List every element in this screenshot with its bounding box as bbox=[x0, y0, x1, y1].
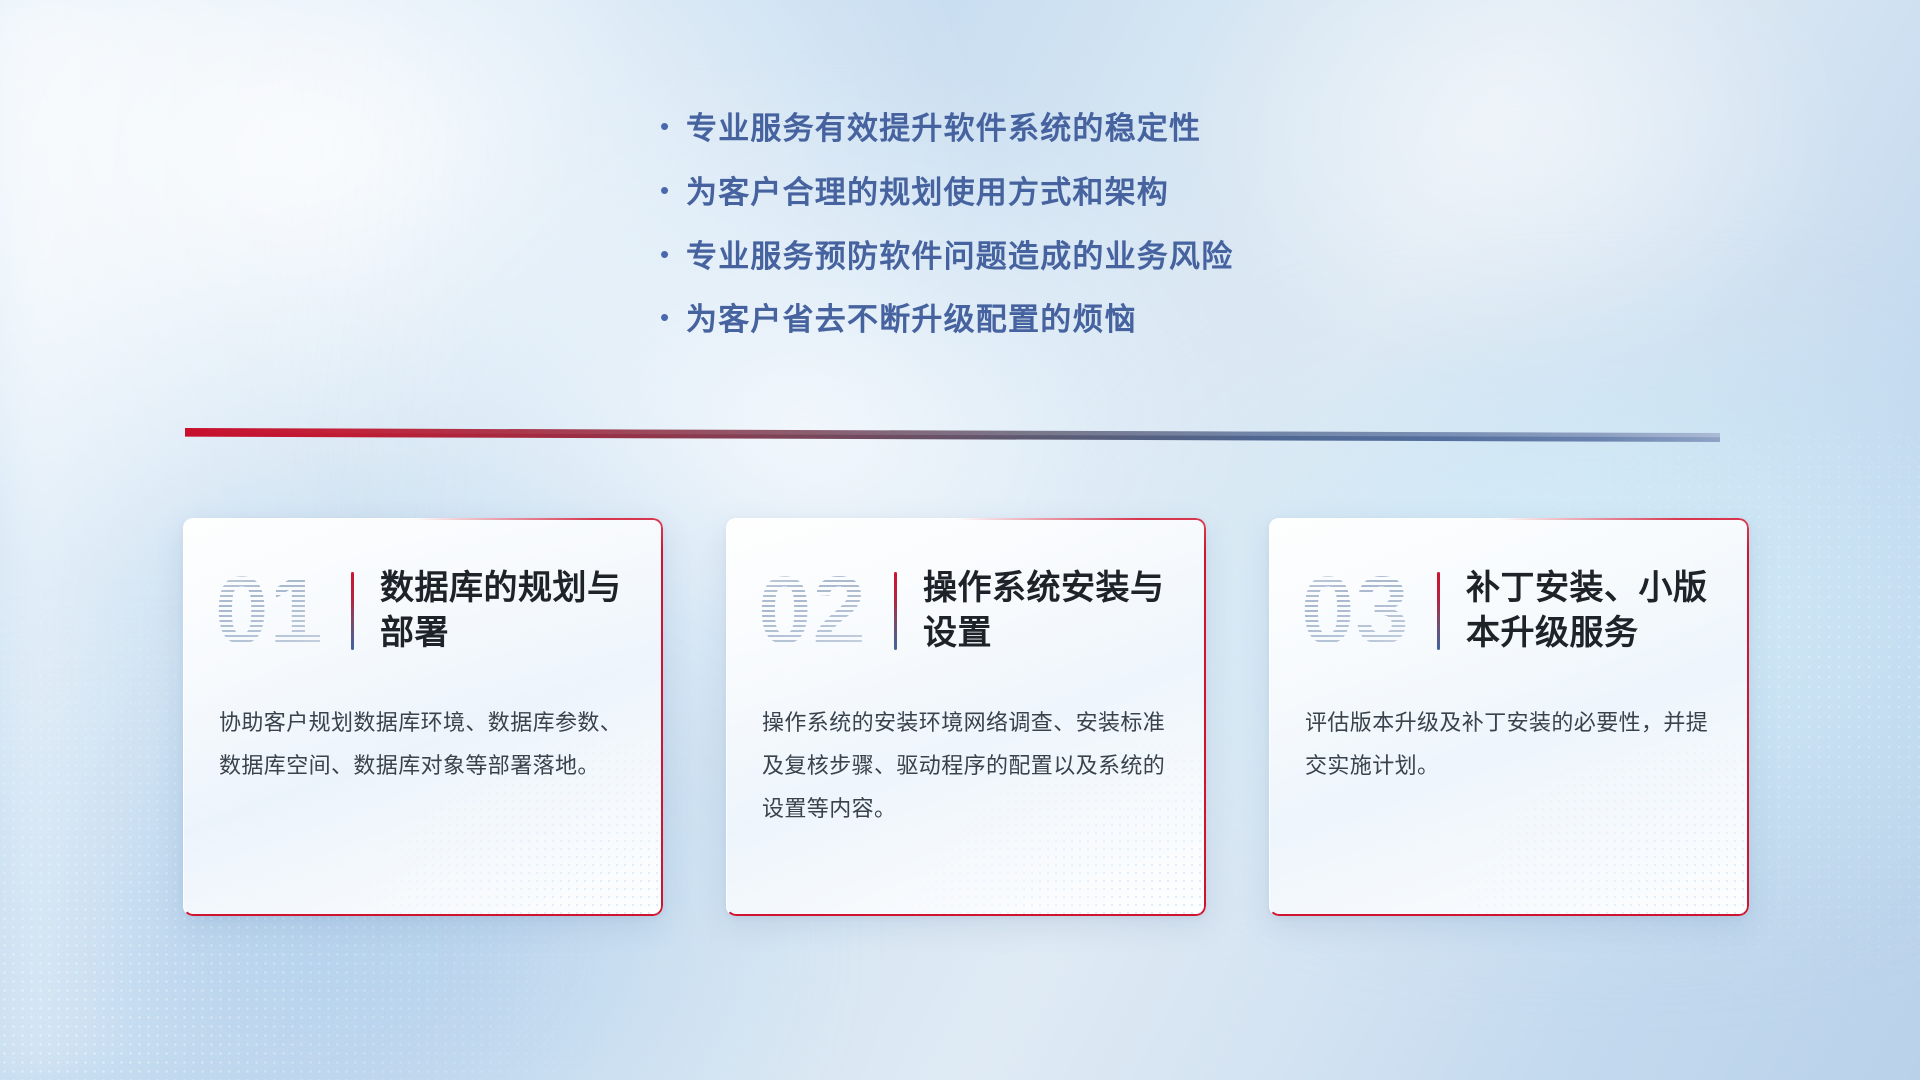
list-item: • 专业服务预防软件问题造成的业务风险 bbox=[660, 238, 1233, 277]
slide-content: • 专业服务有效提升软件系统的稳定性 • 为客户合理的规划使用方式和架构 • 专… bbox=[0, 0, 1920, 1080]
card-number-watermark: 02 bbox=[758, 555, 890, 667]
card-divider-rule bbox=[894, 572, 897, 650]
card-header: 02 操作系统安装与设置 bbox=[726, 518, 1206, 678]
card-description: 协助客户规划数据库环境、数据库参数、数据库空间、数据库对象等部署落地。 bbox=[183, 678, 663, 788]
bullet-text: 专业服务有效提升软件系统的稳定性 bbox=[686, 110, 1201, 149]
bullet-marker-icon: • bbox=[660, 241, 686, 267]
list-item: • 专业服务有效提升软件系统的稳定性 bbox=[660, 110, 1233, 149]
card-divider-rule bbox=[351, 572, 354, 650]
card-title: 操作系统安装与设置 bbox=[923, 566, 1176, 656]
card-number-watermark: 03 bbox=[1301, 555, 1433, 667]
card-header: 01 数据库的规划与部署 bbox=[183, 518, 663, 678]
service-card-02[interactable]: 02 操作系统安装与设置 操作系统的安装环境网络调查、安装标准及复核步骤、驱动程… bbox=[726, 518, 1206, 916]
bullet-marker-icon: • bbox=[660, 177, 686, 203]
service-card-group: 01 数据库的规划与部署 协助客户规划数据库环境、数据库参数、数据库空间、数据库… bbox=[183, 518, 1749, 916]
card-divider-rule bbox=[1437, 572, 1440, 650]
card-description: 操作系统的安装环境网络调查、安装标准及复核步骤、驱动程序的配置以及系统的设置等内… bbox=[726, 678, 1206, 831]
bullet-text: 专业服务预防软件问题造成的业务风险 bbox=[686, 238, 1233, 277]
benefits-bullet-list: • 专业服务有效提升软件系统的稳定性 • 为客户合理的规划使用方式和架构 • 专… bbox=[660, 110, 1233, 365]
bullet-text: 为客户合理的规划使用方式和架构 bbox=[686, 174, 1169, 213]
card-header: 03 补丁安装、小版本升级服务 bbox=[1269, 518, 1749, 678]
card-number-watermark: 01 bbox=[215, 555, 347, 667]
bullet-marker-icon: • bbox=[660, 304, 686, 330]
list-item: • 为客户合理的规划使用方式和架构 bbox=[660, 174, 1233, 213]
bullet-text: 为客户省去不断升级配置的烦恼 bbox=[686, 301, 1137, 340]
service-card-01[interactable]: 01 数据库的规划与部署 协助客户规划数据库环境、数据库参数、数据库空间、数据库… bbox=[183, 518, 663, 916]
bullet-marker-icon: • bbox=[660, 113, 686, 139]
card-title: 补丁安装、小版本升级服务 bbox=[1466, 566, 1719, 656]
list-item: • 为客户省去不断升级配置的烦恼 bbox=[660, 301, 1233, 340]
section-divider bbox=[185, 428, 1720, 442]
service-card-03[interactable]: 03 补丁安装、小版本升级服务 评估版本升级及补丁安装的必要性，并提交实施计划。 bbox=[1269, 518, 1749, 916]
card-title: 数据库的规划与部署 bbox=[380, 566, 633, 656]
card-description: 评估版本升级及补丁安装的必要性，并提交实施计划。 bbox=[1269, 678, 1749, 788]
